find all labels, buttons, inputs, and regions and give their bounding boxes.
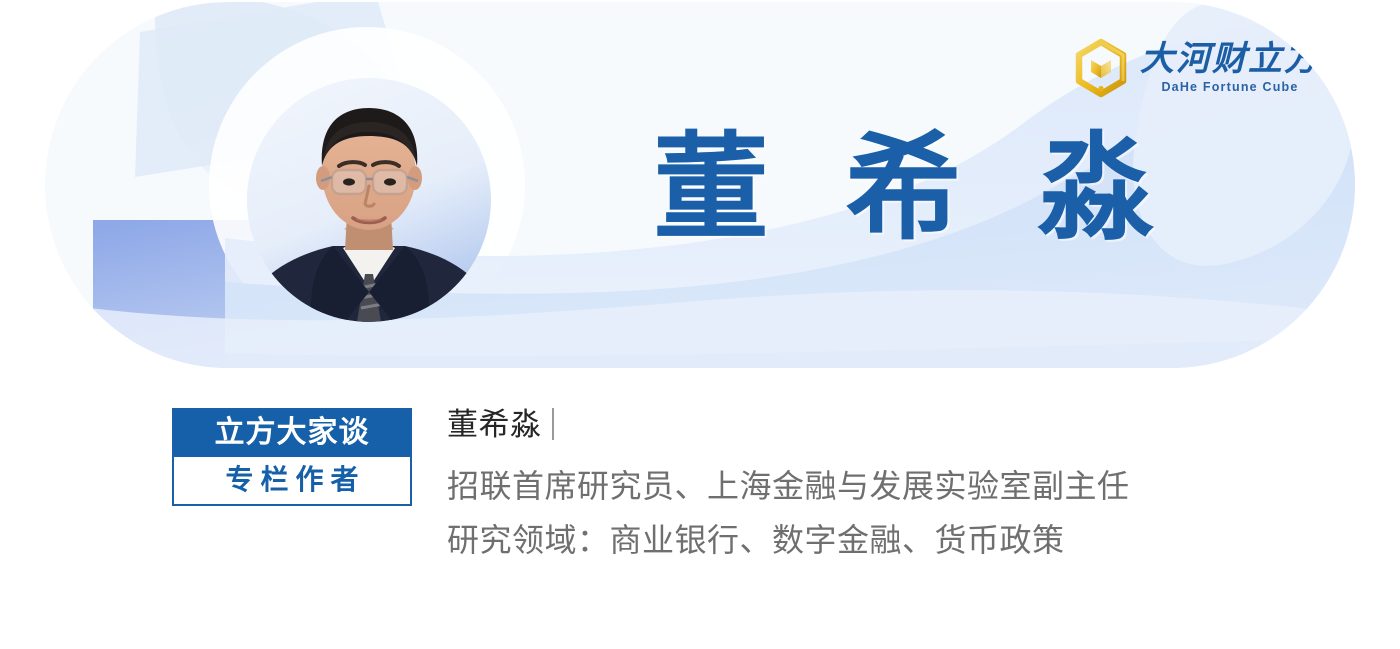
- logo-chinese-name: 大河财立方: [1140, 42, 1320, 78]
- name-separator: [552, 408, 554, 440]
- author-research-line: 研究领域：商业银行、数字金融、货币政策: [447, 524, 1130, 556]
- hexagon-cube-icon: [1071, 38, 1131, 98]
- author-name-row: 董希淼: [447, 400, 1130, 448]
- avatar: [247, 78, 491, 322]
- author-info-block: 立方大家谈 专栏作者 董希淼 招联首席研究员、上海金融与发展实验室副主任 研究领…: [0, 400, 1400, 600]
- badge-top-label: 立方大家谈: [174, 410, 410, 457]
- banner-title: 董 希 淼: [653, 130, 1172, 246]
- header-banner: 董 希 淼: [45, 2, 1355, 368]
- brand-logo: 大河财立方 DaHe Fortune Cube: [1071, 38, 1320, 98]
- logo-english-name: DaHe Fortune Cube: [1161, 80, 1298, 94]
- status-badge: 立方大家谈 专栏作者: [172, 408, 412, 506]
- author-name: 董希淼: [447, 409, 542, 440]
- portrait-photo: [247, 78, 491, 322]
- author-title-line: 招联首席研究员、上海金融与发展实验室副主任: [447, 470, 1130, 502]
- badge-bottom-label: 专栏作者: [174, 457, 410, 504]
- author-details: 董希淼 招联首席研究员、上海金融与发展实验室副主任 研究领域：商业银行、数字金融…: [447, 400, 1130, 556]
